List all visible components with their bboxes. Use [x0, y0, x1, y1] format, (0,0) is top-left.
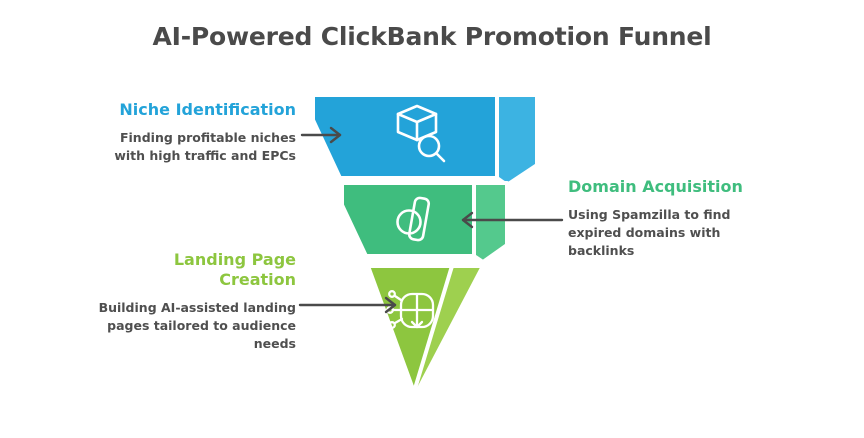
funnel-segment-landing-page-creation[interactable] [368, 266, 483, 392]
funnel-segment-side-domain [474, 183, 507, 262]
connector-arrow-domain [463, 213, 562, 227]
domain-tag-icon [398, 197, 430, 241]
funnel-segment-domain-acquisition[interactable] [342, 183, 507, 262]
step-title-landing: Landing Page Creation [96, 250, 296, 290]
connector-arrow-landing [300, 298, 395, 312]
funnel-segment-face-niche [313, 95, 497, 178]
funnel-segment-face-landing [368, 266, 452, 392]
diagram-canvas: AI-Powered ClickBank Promotion Funnel [0, 0, 864, 438]
connector-arrow-niche [302, 128, 340, 142]
step-description-domain: Using Spamzilla to find expired domains … [568, 206, 778, 260]
funnel-segment-side-landing [411, 266, 483, 392]
funnel-segment-face-domain [342, 183, 474, 256]
funnel-label-domain-acquisition[interactable]: Domain Acquisition Using Spamzilla to fi… [568, 177, 778, 260]
funnel-label-niche-identification[interactable]: Niche Identification Finding profitable … [96, 100, 296, 165]
box-search-icon [398, 106, 444, 161]
ai-brain-circuit-icon [387, 291, 433, 328]
funnel-segment-side-niche [497, 95, 537, 185]
step-description-landing: Building AI-assisted landing pages tailo… [96, 299, 296, 353]
step-title-domain: Domain Acquisition [568, 177, 778, 197]
step-description-niche: Finding profitable niches with high traf… [96, 129, 296, 165]
funnel-segment-niche-identification[interactable] [313, 95, 537, 185]
step-title-niche: Niche Identification [96, 100, 296, 120]
page-title: AI-Powered ClickBank Promotion Funnel [0, 22, 864, 51]
funnel-label-landing-page-creation[interactable]: Landing Page Creation Building AI-assist… [96, 250, 296, 353]
